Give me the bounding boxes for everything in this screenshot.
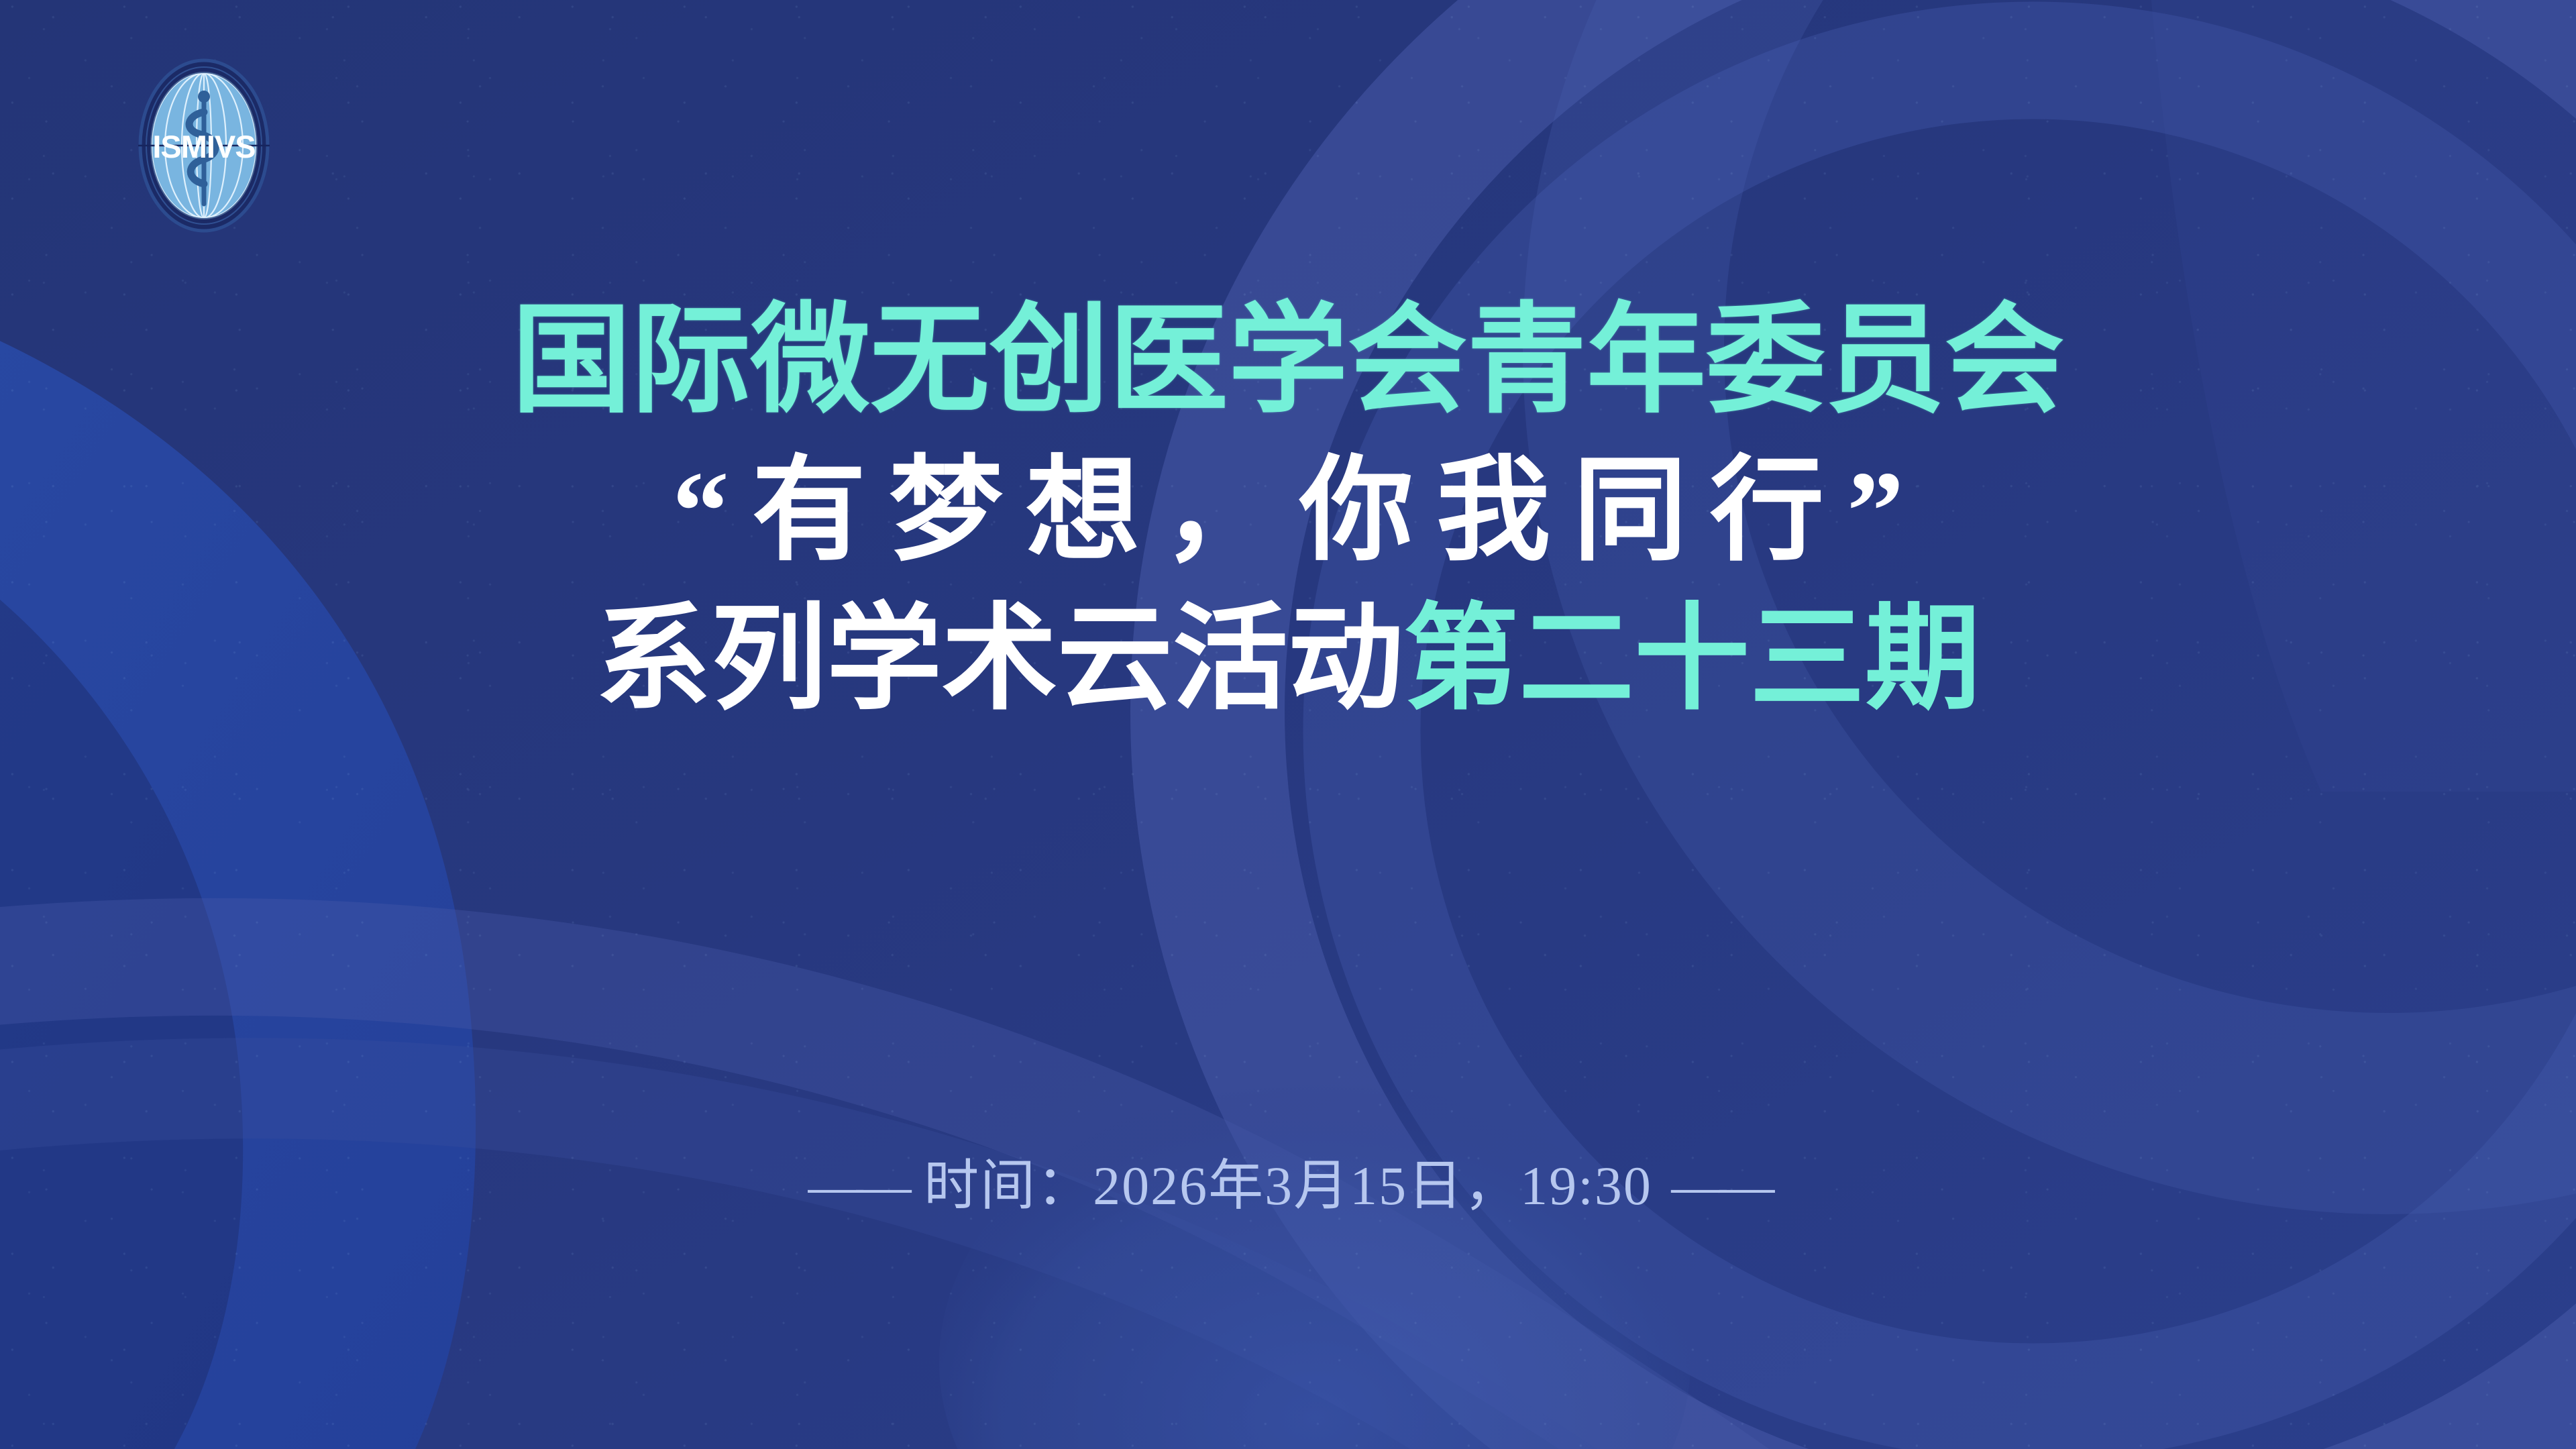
dash-right: —— — [1667, 1155, 1772, 1216]
background-shapes — [0, 0, 2576, 1449]
title-line-slogan: “有梦想，你我同行” — [0, 453, 2576, 570]
ismivs-logo-graphic: ISMIVS — [119, 48, 288, 243]
series-episode: 第二十三期 — [1403, 596, 1980, 724]
title-line-series: 系列学术云活动第二十三期 — [0, 602, 2576, 719]
title-block: 国际微无创医学会青年委员会 “有梦想，你我同行” 系列学术云活动第二十三期 — [0, 301, 2576, 719]
ismivs-logo: ISMIVS — [119, 48, 288, 243]
poster-canvas: ISMIVS 国际微无创医学会青年委员会 “有梦想，你我同行” 系列学术云活动第… — [0, 0, 2576, 1449]
arc-ring-outer — [1207, 0, 2576, 1449]
series-label: 系列学术云活动 — [596, 596, 1403, 724]
dash-left: —— — [804, 1155, 909, 1216]
datetime-value: 2026年3月15日，19:30 — [1093, 1155, 1652, 1216]
background-decoration — [0, 0, 2576, 1449]
datetime-label: 时间： — [924, 1155, 1093, 1216]
title-line-organization: 国际微无创医学会青年委员会 — [0, 301, 2576, 423]
event-datetime: —— 时间：2026年3月15日，19:30 —— — [0, 1140, 2576, 1220]
grain-texture — [0, 0, 2576, 1449]
logo-wordmark: ISMIVS — [152, 129, 255, 164]
center-dome-glow — [939, 1080, 1690, 1449]
